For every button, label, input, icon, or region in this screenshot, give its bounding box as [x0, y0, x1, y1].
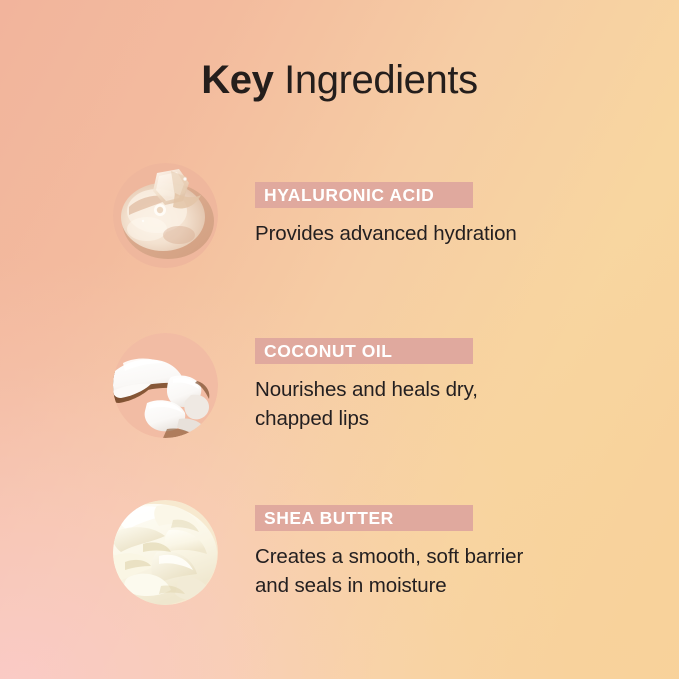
ingredient-row: HYALURONIC ACID Provides advanced hydrat… — [113, 163, 633, 268]
coconut-pieces-photo — [113, 333, 218, 438]
page-title-strong: Key — [201, 58, 273, 102]
ingredient-row: SHEA BUTTER Creates a smooth, soft barri… — [113, 500, 633, 605]
ingredient-description: Provides advanced hydration — [255, 220, 633, 248]
ingredient-text: COCONUT OIL Nourishes and heals dry, cha… — [255, 338, 633, 433]
ingredient-label: COCONUT OIL — [255, 338, 473, 364]
hyaluronic-acid-gel-droplet-photo — [113, 163, 218, 268]
ingredient-description: Nourishes and heals dry, chapped lips — [255, 376, 633, 433]
shea-butter-chunks-photo — [113, 500, 218, 605]
ingredient-panel: Key Ingredients — [0, 0, 679, 679]
page-title-light: Ingredients — [273, 58, 477, 102]
page-title: Key Ingredients — [0, 58, 679, 103]
ingredient-text: SHEA BUTTER Creates a smooth, soft barri… — [255, 505, 633, 600]
ingredient-row: COCONUT OIL Nourishes and heals dry, cha… — [113, 333, 633, 438]
ingredient-text: HYALURONIC ACID Provides advanced hydrat… — [255, 182, 633, 248]
ingredient-label: SHEA BUTTER — [255, 505, 473, 531]
ingredient-label: HYALURONIC ACID — [255, 182, 473, 208]
ingredient-description: Creates a smooth, soft barrier and seals… — [255, 543, 633, 600]
